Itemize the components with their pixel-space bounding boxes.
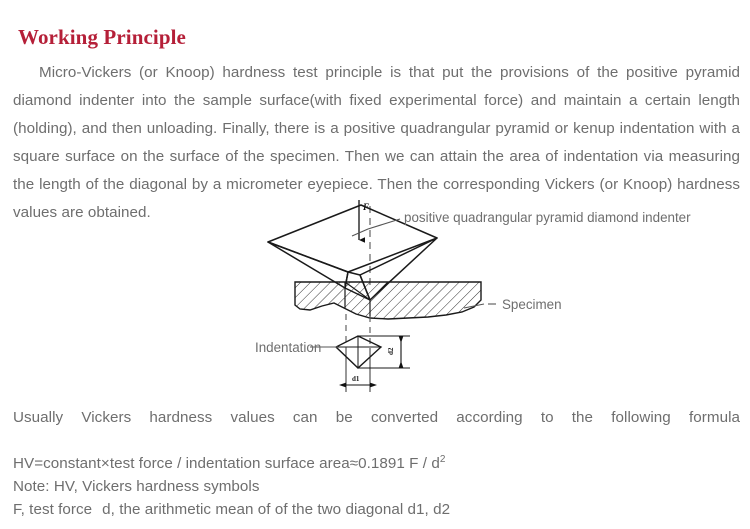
d1-label: d1 [352, 375, 360, 383]
indenter-label: positive quadrangular pyramid diamond in… [404, 210, 691, 225]
formula-block: Usually Vickers hardness values can be c… [13, 406, 743, 521]
formula-intro-line: Usually Vickers hardness values can be c… [13, 406, 740, 452]
indentation-label: Indentation [255, 340, 321, 355]
document-page: Working Principle Micro-Vickers (or Knoo… [0, 0, 750, 529]
dimension-d2: d2 [358, 336, 410, 368]
symbols-line: F, test forced, the arithmetic mean of o… [13, 498, 743, 521]
specimen-block [295, 282, 481, 320]
vickers-principle-diagram: F [248, 196, 750, 404]
force-symbol-note: F, test force [13, 501, 92, 518]
page-title: Working Principle [18, 24, 186, 50]
d2-label: d2 [387, 347, 395, 355]
formula-expression: HV=constant×test force / indentation sur… [13, 455, 440, 472]
diagonal-symbol-note: d, the arithmetic mean of of the two dia… [102, 501, 450, 518]
formula-exponent: 2 [440, 454, 446, 465]
formula-line: HV=constant×test force / indentation sur… [13, 452, 743, 475]
note-line: Note: HV, Vickers hardness symbols [13, 475, 743, 498]
specimen-label: Specimen [502, 297, 562, 312]
indenter-left-face [268, 242, 348, 288]
